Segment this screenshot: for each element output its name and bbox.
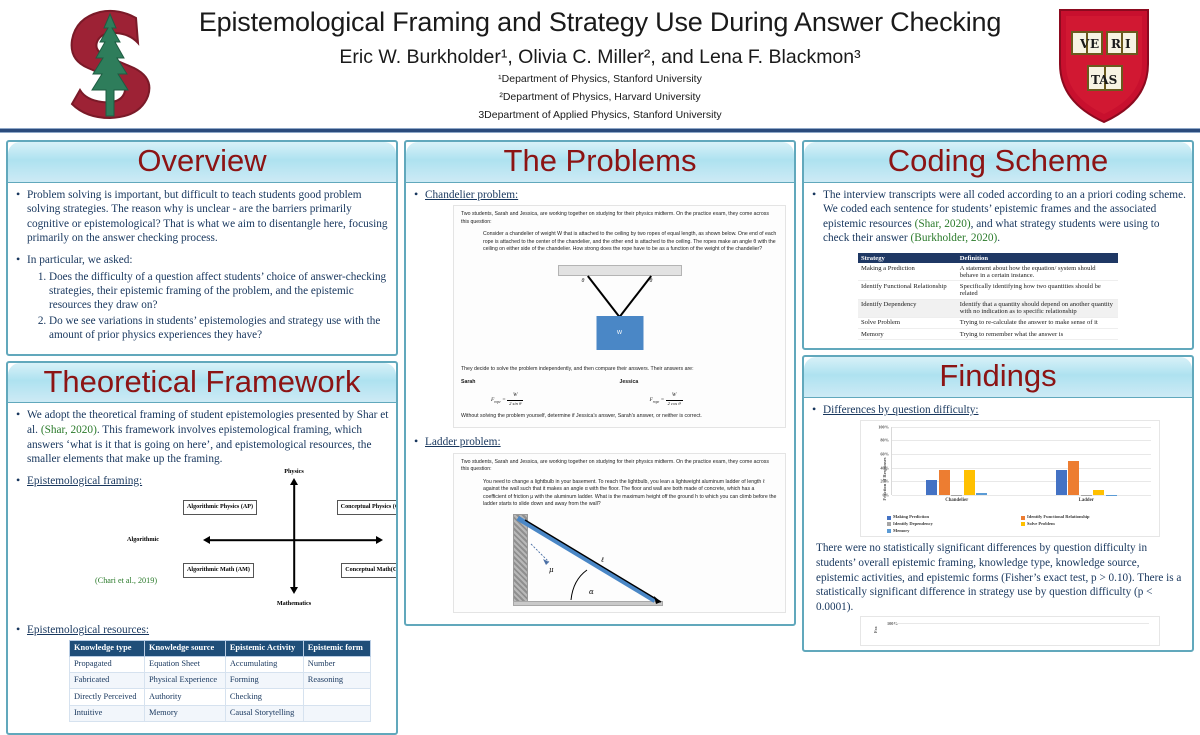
- legend-label: Making Prediction: [893, 514, 929, 521]
- findings-subhead-item: Differences by question difficulty:: [810, 403, 1186, 418]
- chart-xtick: Chandelier: [892, 498, 1022, 503]
- chart-bar: [964, 470, 975, 496]
- panel-theoretical-framework: Theoretical Framework We adopt the theor…: [6, 361, 398, 735]
- coding-title: Coding Scheme: [804, 144, 1192, 179]
- cell: Checking: [225, 689, 303, 705]
- cell: Reasoning: [303, 673, 370, 689]
- epistemological-framing-quadrant: Physics Mathematics Algorithmic Conceptu…: [175, 474, 398, 606]
- overview-bullet-1: Problem solving is important, but diffic…: [14, 188, 390, 246]
- table-row: Intuitive Memory Causal Storytelling: [70, 705, 371, 721]
- svg-text:ℓ: ℓ: [600, 556, 604, 564]
- panel-coding-scheme: Coding Scheme The interview transcripts …: [802, 140, 1194, 350]
- affiliation-1: ¹Department of Physics, Stanford Univers…: [170, 73, 1030, 87]
- chart-ytick: 60%: [880, 451, 889, 456]
- column-left: Overview Problem solving is important, b…: [6, 140, 398, 675]
- answer-jessica: Jessica Frope = W 2 cos θ: [620, 379, 779, 407]
- svg-text:μ: μ: [549, 566, 554, 574]
- coding-body: The interview transcripts were all coded…: [804, 183, 1192, 348]
- eq-numerator: W: [666, 392, 683, 401]
- panel-header-overview: Overview: [8, 142, 396, 183]
- fraction: W 2 sin θ: [507, 392, 523, 407]
- chandelier-prompt: Without solving the problem yourself, de…: [461, 413, 778, 421]
- chart-bar: [1106, 495, 1117, 496]
- legend-swatch: [1021, 522, 1025, 526]
- chart-group: Chandelier: [892, 427, 1022, 495]
- chart-plot-area: 0%20%40%60%80%100%ChandelierLadder: [891, 427, 1151, 495]
- ladder-problem-card: Two students, Sarah and Jessica, are wor…: [453, 453, 786, 613]
- chart-legend-item: Memory: [887, 528, 1021, 535]
- svg-text:TAS: TAS: [1091, 73, 1117, 87]
- chart-ytick: 20%: [880, 479, 889, 484]
- quadrant-box-cp: Conceptual Physics (CP): [337, 500, 398, 515]
- svg-text:E: E: [1090, 37, 1099, 51]
- cell: Solve Problem: [858, 317, 957, 328]
- legend-label: Memory: [893, 528, 910, 535]
- cell: Memory: [858, 328, 957, 339]
- eq-sub: rope: [653, 400, 659, 404]
- res-col-0: Knowledge type: [70, 640, 145, 656]
- quadrant-box-am: Algorithmic Math (AM): [183, 563, 254, 578]
- cell: Memory: [145, 705, 226, 721]
- panel-header-findings: Findings: [804, 357, 1192, 398]
- eq-denominator: 2 cos θ: [666, 401, 683, 408]
- framing-label: Epistemological framing:: [27, 475, 142, 487]
- res-col-2: Epistemic Activity: [225, 640, 303, 656]
- legend-label: Identify Dependency: [893, 521, 933, 528]
- quadrant-axis-top: Physics: [284, 468, 304, 476]
- svg-text:α: α: [589, 588, 594, 596]
- ladder-question: You need to change a lightbulb in your b…: [483, 479, 778, 509]
- quadrant-vertical-axis: [293, 484, 295, 588]
- answer-sarah: Sarah Frope = W 2 sin θ: [461, 379, 620, 407]
- chart-group: Ladder: [1022, 427, 1152, 495]
- overview-body: Problem solving is important, but diffic…: [8, 183, 396, 354]
- panel-findings: Findings Differences by question difficu…: [802, 355, 1194, 652]
- findings-text: There were no statistically significant …: [810, 539, 1186, 614]
- chart-bar: [926, 480, 937, 495]
- findings-title: Findings: [804, 359, 1192, 394]
- stanford-logo: [58, 4, 162, 122]
- resources-label: Epistemological resources:: [27, 624, 149, 636]
- chart-bar: [951, 495, 962, 496]
- cell: [303, 705, 370, 721]
- chart-ytick: 40%: [880, 465, 889, 470]
- epistemological-resources-table: Knowledge type Knowledge source Epistemi…: [69, 640, 371, 722]
- table-row: Identify Dependency Identify that a quan…: [858, 299, 1118, 317]
- chart2-gridline: [895, 623, 1149, 624]
- chart-bar: [1068, 461, 1079, 495]
- cell: Specifically identifying how two quantit…: [957, 281, 1118, 299]
- chart2-ylabel: Fra: [873, 627, 878, 634]
- quadrant-axis-left: Algorithmic: [127, 536, 159, 544]
- panel-header-coding: Coding Scheme: [804, 142, 1192, 183]
- cell: Number: [303, 657, 370, 673]
- chandelier-compare: They decide to solve the problem indepen…: [461, 366, 778, 374]
- chandelier-problem-item: Chandelier problem: Two students, Sarah …: [412, 188, 788, 428]
- chart-legend: Making PredictionIdentify Functional Rel…: [887, 514, 1155, 534]
- cell: Making a Prediction: [858, 263, 957, 281]
- header-divider: [0, 128, 1200, 133]
- research-questions: Does the difficulty of a question affect…: [49, 270, 390, 343]
- coding-paragraph: The interview transcripts were all coded…: [810, 188, 1186, 246]
- cell: Propagated: [70, 657, 145, 673]
- table-row: Identify Functional Relationship Specifi…: [858, 281, 1118, 299]
- panel-header-framework: Theoretical Framework: [8, 363, 396, 404]
- svg-text:I: I: [1125, 37, 1131, 51]
- answer-name-sarah: Sarah: [461, 379, 620, 387]
- code-col-strategy: Strategy: [858, 253, 957, 263]
- chart-bar: [939, 470, 950, 495]
- affiliation-2: ²Department of Physics, Harvard Universi…: [170, 91, 1030, 105]
- overview-title: Overview: [8, 144, 396, 179]
- legend-swatch: [887, 516, 891, 520]
- table-row: Directly Perceived Authority Checking: [70, 689, 371, 705]
- findings-body: Differences by question difficulty: Frac…: [804, 398, 1192, 650]
- strategy-definition-table: Strategy Definition Making a Prediction …: [858, 253, 1118, 340]
- chandelier-problem-card: Two students, Sarah and Jessica, are wor…: [453, 205, 786, 428]
- chart-bar: [976, 493, 987, 495]
- angle-label-left: θ: [582, 278, 585, 286]
- chart-bars: ChandelierLadder: [892, 427, 1151, 495]
- res-col-3: Epistemic form: [303, 640, 370, 656]
- chart-ytick: 100%: [878, 424, 889, 429]
- answer-equation-sarah: Frope = W 2 sin θ: [461, 392, 523, 407]
- table-header-row: Knowledge type Knowledge source Epistemi…: [70, 640, 371, 656]
- chandelier-label: Chandelier problem:: [425, 189, 518, 201]
- quadrant-box-cm: Conceptual Math(CM): [341, 563, 398, 578]
- res-col-1: Knowledge source: [145, 640, 226, 656]
- research-question-1: Does the difficulty of a question affect…: [49, 270, 390, 313]
- legend-swatch: [1021, 516, 1025, 520]
- affiliation-3: 3Department of Applied Physics, Stanford…: [170, 109, 1030, 123]
- table-row: Solve Problem Trying to re-calculate the…: [858, 317, 1118, 328]
- chart-xtick: Ladder: [1022, 498, 1152, 503]
- code-col-definition: Definition: [957, 253, 1118, 263]
- coding-citation-burkholder: (Burkholder, 2020): [911, 232, 998, 244]
- chart-legend-item: Making Prediction: [887, 514, 1021, 521]
- problems-body: Chandelier problem: Two students, Sarah …: [406, 183, 794, 624]
- cell: Directly Perceived: [70, 689, 145, 705]
- cell: Accumulating: [225, 657, 303, 673]
- chart-bar: [1056, 470, 1067, 496]
- cell: Trying to remember what the answer is: [957, 328, 1118, 339]
- chandelier-question: Consider a chandelier of weight W that i…: [483, 231, 778, 254]
- svg-text:V: V: [1079, 37, 1090, 51]
- cell: Trying to re-calculate the answer to mak…: [957, 317, 1118, 328]
- framing-diagram-row: Physics Mathematics Algorithmic Conceptu…: [27, 488, 390, 616]
- svg-text:R: R: [1111, 37, 1122, 51]
- panel-the-problems: The Problems Chandelier problem: Two stu…: [404, 140, 796, 626]
- framework-citation-shar: (Shar, 2020): [41, 424, 97, 436]
- answer-equation-jessica: Frope = W 2 cos θ: [620, 392, 683, 407]
- chandelier-answers: Sarah Frope = W 2 sin θ: [461, 379, 778, 407]
- quadrant-axis-bottom: Mathematics: [277, 600, 311, 608]
- eq-numerator: W: [507, 392, 523, 401]
- table-header-row: Strategy Definition: [858, 253, 1118, 263]
- ladder-figure: ℓ α μ: [461, 514, 778, 606]
- chart-legend-item: Solve Problem: [1021, 521, 1155, 528]
- arrow-down-icon: [290, 587, 298, 594]
- column-middle: The Problems Chandelier problem: Two stu…: [404, 140, 796, 675]
- cell: Forming: [225, 673, 303, 689]
- page-title: Epistemological Framing and Strategy Use…: [170, 6, 1030, 39]
- legend-swatch: [887, 529, 891, 533]
- panel-overview: Overview Problem solving is important, b…: [6, 140, 398, 356]
- cell: Identify Dependency: [858, 299, 957, 317]
- framework-body: We adopt the theoretical framing of stud…: [8, 403, 396, 732]
- overview-bullet-2-label: In particular, we asked:: [27, 254, 133, 266]
- quadrant-horizontal-axis: [209, 539, 377, 541]
- table-row: Making a Prediction A statement about ho…: [858, 263, 1118, 281]
- poster-columns: Overview Problem solving is important, b…: [0, 140, 1200, 675]
- chart-legend-item: Identify Functional Relationship: [1021, 514, 1155, 521]
- arrow-right-icon: [376, 536, 383, 544]
- answer-name-jessica: Jessica: [620, 379, 779, 387]
- framework-paragraph: We adopt the theoretical framing of stud…: [14, 408, 390, 466]
- chart-ytick: 80%: [880, 438, 889, 443]
- ladder-annotations: ℓ α μ: [461, 514, 778, 606]
- arrow-left-icon: [203, 536, 210, 544]
- framing-item: Epistemological framing: Physics Mathe: [14, 474, 390, 617]
- cell: Physical Experience: [145, 673, 226, 689]
- cell: Intuitive: [70, 705, 145, 721]
- cell: [303, 689, 370, 705]
- panel-header-problems: The Problems: [406, 142, 794, 183]
- cell: Identify Functional Relationship: [858, 281, 957, 299]
- table-row: Memory Trying to remember what the answe…: [858, 328, 1118, 339]
- ladder-intro: Two students, Sarah and Jessica, are wor…: [461, 459, 778, 474]
- table-row: Fabricated Physical Experience Forming R…: [70, 673, 371, 689]
- cell: Fabricated: [70, 673, 145, 689]
- cell: Causal Storytelling: [225, 705, 303, 721]
- legend-swatch: [887, 522, 891, 526]
- ladder-label: Ladder problem:: [425, 436, 501, 448]
- findings-subhead: Differences by question difficulty:: [823, 404, 979, 416]
- angle-label-right: θ: [650, 278, 653, 286]
- poster-header: Epistemological Framing and Strategy Use…: [0, 0, 1200, 128]
- quadrant-box-ap: Algorithmic Physics (AP): [183, 500, 257, 515]
- coding-citation-shar: (Shar, 2020): [915, 218, 971, 230]
- framework-title: Theoretical Framework: [8, 365, 396, 400]
- cell: Equation Sheet: [145, 657, 226, 673]
- secondary-chart-partial: 100% Fra: [860, 616, 1160, 646]
- coding-para-3: .: [997, 232, 1000, 244]
- research-question-2: Do we see variations in students’ episte…: [49, 314, 390, 343]
- harvard-shield-logo: V E R I TAS: [1050, 6, 1158, 124]
- legend-label: Solve Problem: [1027, 521, 1055, 528]
- title-block: Epistemological Framing and Strategy Use…: [170, 6, 1030, 123]
- quadrant-citation: (Chari et al., 2019): [95, 576, 157, 587]
- chandelier-intro: Two students, Sarah and Jessica, are wor…: [461, 211, 778, 226]
- resources-item: Epistemological resources: Knowledge typ…: [14, 623, 390, 722]
- author-list: Eric W. Burkholder¹, Olivia C. Miller², …: [170, 46, 1030, 69]
- fraction: W 2 cos θ: [666, 392, 683, 407]
- problems-title: The Problems: [406, 144, 794, 179]
- cell: Identify that a quantity should depend o…: [957, 299, 1118, 317]
- chandelier-weight-box: W: [596, 316, 643, 350]
- overview-bullet-2: In particular, we asked: Does the diffic…: [14, 253, 390, 343]
- strategy-by-difficulty-chart: Fraction of Responses 0%20%40%60%80%100%…: [860, 420, 1160, 537]
- cell: A statement about how the equation/ syst…: [957, 263, 1118, 281]
- chart-legend-item: Identify Dependency: [887, 521, 1021, 528]
- ladder-problem-item: Ladder problem: Two students, Sarah and …: [412, 435, 788, 613]
- chart-bar: [1093, 490, 1104, 495]
- eq-sub: rope: [494, 400, 500, 404]
- cell: Authority: [145, 689, 226, 705]
- legend-label: Identify Functional Relationship: [1027, 514, 1090, 521]
- table-row: Propagated Equation Sheet Accumulating N…: [70, 657, 371, 673]
- column-right: Coding Scheme The interview transcripts …: [802, 140, 1194, 675]
- arrow-up-icon: [290, 478, 298, 485]
- eq-denominator: 2 sin θ: [507, 401, 523, 408]
- chart-ytick: 0%: [883, 492, 889, 497]
- chart-bar: [1081, 495, 1092, 496]
- chandelier-figure: θ θ W: [461, 259, 778, 364]
